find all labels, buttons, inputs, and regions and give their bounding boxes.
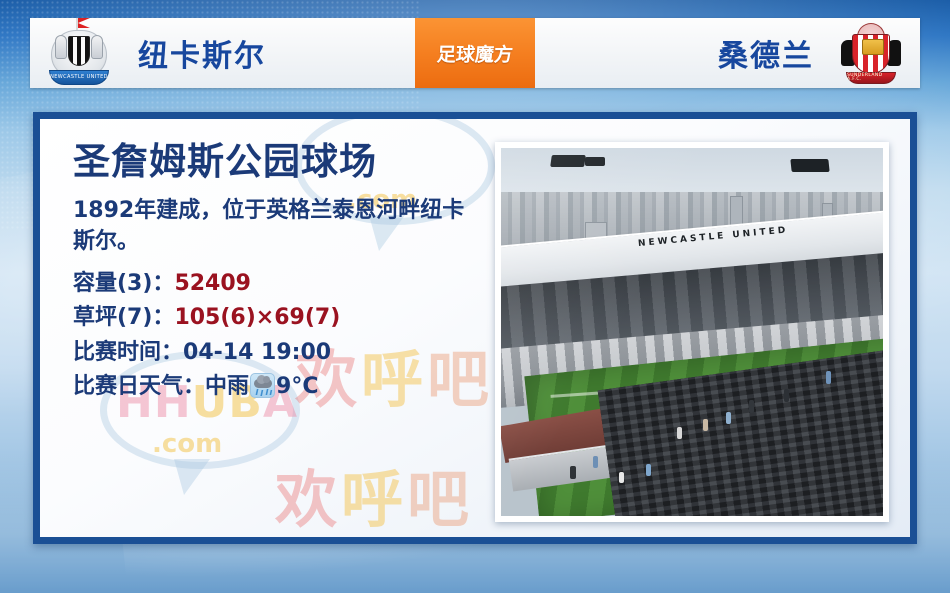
stadium-photo: NEWCASTLE UNITED: [501, 148, 883, 516]
newcastle-united-crest-icon: NEWCASTLE UNITED: [48, 20, 110, 86]
match-time-row: 比赛时间：04-14 19:00: [73, 336, 493, 370]
match-time-label: 比赛时间: [73, 340, 161, 365]
capacity-separator: ：: [152, 271, 174, 296]
crest-banner-text: SUNDERLAND A.F.C.: [846, 72, 896, 84]
site-brand-label: 足球魔方: [436, 40, 514, 67]
app-background: NEWCASTLE UNITED 纽卡斯尔 足球魔方 桑德兰 SUNDERLAN…: [0, 0, 950, 593]
stadium-photo-frame[interactable]: NEWCASTLE UNITED: [495, 142, 889, 522]
site-brand-logo[interactable]: 足球魔方: [415, 18, 535, 88]
sunderland-crest-icon: SUNDERLAND A.F.C.: [840, 20, 902, 86]
stadium-title: 圣詹姆斯公园球场: [73, 141, 493, 184]
pitch-separator: ：: [152, 305, 174, 330]
stadium-info-column: 圣詹姆斯公园球场 1892年建成，位于英格兰泰恩河畔纽卡斯尔。 容量(3)：52…: [73, 141, 493, 404]
watermark-cn-bottom: 欢呼吧: [275, 449, 473, 539]
capacity-label: 容量(3): [73, 271, 152, 296]
stadium-description: 1892年建成，位于英格兰泰恩河畔纽卡斯尔。: [73, 195, 473, 259]
stadium-info-panel: .com HHUBA .com 欢呼吧 欢呼吧 圣詹姆斯公园球场 1892年建成…: [33, 112, 917, 544]
match-time-value: 04-14 19:00: [183, 340, 331, 365]
crest-banner-text: NEWCASTLE UNITED: [49, 70, 109, 85]
capacity-row: 容量(3)：52409: [73, 267, 493, 301]
away-team-block[interactable]: 桑德兰 SUNDERLAND A.F.C.: [535, 18, 920, 88]
weather-label: 比赛日天气: [73, 374, 183, 399]
pitch-label: 草坪(7): [73, 305, 152, 330]
weather-condition: 中雨: [205, 374, 249, 399]
match-time-separator: ：: [161, 340, 183, 365]
weather-separator: ：: [183, 374, 205, 399]
rain-cloud-icon: [250, 373, 275, 398]
home-team-name: 纽卡斯尔: [138, 31, 266, 75]
weather-row: 比赛日天气：中雨9°C: [73, 370, 493, 404]
match-header: NEWCASTLE UNITED 纽卡斯尔 足球魔方 桑德兰 SUNDERLAN…: [30, 18, 920, 88]
weather-temperature: 9°C: [276, 374, 318, 399]
pitch-row: 草坪(7)：105(6)×69(7): [73, 301, 493, 335]
pitch-value: 105(6)×69(7): [174, 305, 340, 330]
home-team-block[interactable]: NEWCASTLE UNITED 纽卡斯尔: [30, 18, 415, 88]
away-team-name: 桑德兰: [718, 31, 814, 75]
capacity-value: 52409: [174, 271, 251, 296]
